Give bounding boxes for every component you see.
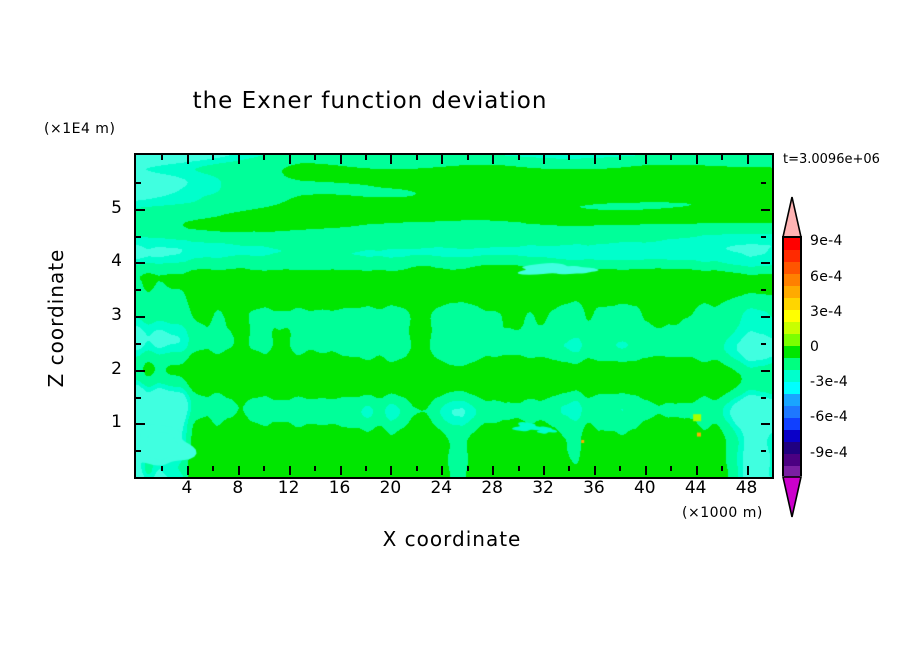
x-tick-major <box>492 466 494 475</box>
x-tick-minor-top <box>467 155 469 160</box>
x-tick-minor <box>467 466 469 471</box>
y-tick-major <box>136 316 145 318</box>
contour-field <box>136 155 772 477</box>
y-tick-label: 3 <box>88 305 122 325</box>
y-axis-title: Z coordinate <box>44 198 68 438</box>
x-tick-minor-top <box>619 155 621 160</box>
y-tick-label: 1 <box>88 412 122 432</box>
y-tick-label: 2 <box>88 359 122 379</box>
y-tick-minor <box>136 397 141 399</box>
x-tick-major <box>187 466 189 475</box>
colorbar-band <box>784 430 800 442</box>
colorbar-tick-label: 0 <box>810 339 819 355</box>
x-tick-major <box>238 466 240 475</box>
x-tick-minor-top <box>772 155 774 160</box>
x-tick-minor <box>619 466 621 471</box>
x-tick-minor-top <box>212 155 214 160</box>
x-tick-label: 48 <box>717 478 777 498</box>
x-tick-minor-top <box>263 155 265 160</box>
x-tick-major-top <box>543 155 545 164</box>
y-tick-major <box>136 370 145 372</box>
colorbar-tick-label: -9e-4 <box>810 445 848 461</box>
colorbar-band <box>784 262 800 274</box>
x-tick-minor <box>365 466 367 471</box>
colorbar-band <box>784 310 800 322</box>
x-tick-major-top <box>441 155 443 164</box>
x-tick-major <box>594 466 596 475</box>
x-tick-major <box>340 466 342 475</box>
x-tick-minor-top <box>518 155 520 160</box>
x-tick-major <box>289 466 291 475</box>
y-axis-ticks-left <box>136 155 146 477</box>
y-tick-major-right <box>761 423 770 425</box>
y-tick-minor <box>136 343 141 345</box>
time-annotation: t=3.0096e+06 <box>783 152 880 167</box>
x-tick-minor <box>212 466 214 471</box>
colorbar-band <box>784 334 800 346</box>
x-tick-minor <box>161 466 163 471</box>
x-tick-major <box>441 466 443 475</box>
colorbar-band <box>784 370 800 382</box>
colorbar-band <box>784 358 800 370</box>
colorbar-band <box>784 250 800 262</box>
colorbar-band <box>784 394 800 406</box>
colorbar-tick-label: 3e-4 <box>810 304 843 320</box>
x-tick-minor-top <box>314 155 316 160</box>
colorbar: 9e-46e-43e-40-3e-4-6e-4-9e-4 <box>782 196 802 516</box>
y-tick-major-right <box>761 262 770 264</box>
colorbar-bands <box>782 236 802 476</box>
x-tick-minor <box>721 466 723 471</box>
colorbar-band <box>784 418 800 430</box>
x-tick-major <box>645 466 647 475</box>
y-tick-label: 4 <box>88 251 122 271</box>
colorbar-band <box>784 286 800 298</box>
colorbar-tick-label: -6e-4 <box>810 409 848 425</box>
x-tick-minor-top <box>365 155 367 160</box>
x-tick-minor-top <box>416 155 418 160</box>
x-tick-major <box>390 466 392 475</box>
x-tick-minor-top <box>568 155 570 160</box>
colorbar-band <box>784 322 800 334</box>
contour-plot-area <box>134 153 774 479</box>
x-tick-major-top <box>645 155 647 164</box>
x-tick-minor-top <box>670 155 672 160</box>
y-tick-major <box>136 262 145 264</box>
x-tick-major-top <box>390 155 392 164</box>
y-tick-major <box>136 423 145 425</box>
y-tick-minor-right <box>761 236 766 238</box>
x-tick-minor-top <box>721 155 723 160</box>
y-tick-minor-right <box>761 182 766 184</box>
x-tick-minor <box>568 466 570 471</box>
x-tick-major-top <box>340 155 342 164</box>
x-tick-minor <box>772 466 774 471</box>
x-tick-major-top <box>492 155 494 164</box>
colorbar-top-arrow <box>782 196 802 238</box>
y-axis-ticks-right <box>761 155 771 477</box>
colorbar-tick-label: 6e-4 <box>810 269 843 285</box>
y-tick-minor <box>136 450 141 452</box>
chart-title: the Exner function deviation <box>0 88 740 114</box>
y-tick-minor <box>136 182 141 184</box>
x-tick-major <box>747 466 749 475</box>
x-tick-major-top <box>594 155 596 164</box>
y-tick-major-right <box>761 209 770 211</box>
colorbar-band <box>784 406 800 418</box>
x-tick-major <box>696 466 698 475</box>
x-tick-major-top <box>187 155 189 164</box>
y-tick-major <box>136 209 145 211</box>
colorbar-band <box>784 442 800 454</box>
y-axis-unit-label: (×1E4 m) <box>44 121 115 137</box>
colorbar-band <box>784 382 800 394</box>
x-tick-major-top <box>238 155 240 164</box>
x-axis-title: X coordinate <box>134 527 770 551</box>
colorbar-band <box>784 346 800 358</box>
x-tick-minor <box>670 466 672 471</box>
y-tick-minor-right <box>761 450 766 452</box>
x-tick-major <box>543 466 545 475</box>
x-tick-major-top <box>747 155 749 164</box>
x-tick-minor <box>518 466 520 471</box>
x-tick-minor <box>416 466 418 471</box>
colorbar-band <box>784 298 800 310</box>
colorbar-band <box>784 238 800 250</box>
y-tick-minor-right <box>761 397 766 399</box>
y-tick-major-right <box>761 370 770 372</box>
colorbar-band <box>784 274 800 286</box>
colorbar-bottom-arrow <box>782 476 802 518</box>
x-tick-minor <box>314 466 316 471</box>
y-tick-label: 5 <box>88 198 122 218</box>
y-tick-minor-right <box>761 343 766 345</box>
x-tick-major-top <box>696 155 698 164</box>
colorbar-tick-label: 9e-4 <box>810 233 843 249</box>
x-axis-ticks-bottom <box>136 466 772 476</box>
x-tick-minor-top <box>161 155 163 160</box>
figure-root: the Exner function deviation (×1E4 m) t=… <box>0 0 904 654</box>
y-tick-minor <box>136 289 141 291</box>
y-tick-minor <box>136 236 141 238</box>
y-tick-major-right <box>761 316 770 318</box>
colorbar-band <box>784 454 800 466</box>
x-axis-unit-label: (×1000 m) <box>682 505 763 521</box>
x-tick-major-top <box>289 155 291 164</box>
y-tick-minor-right <box>761 289 766 291</box>
x-tick-minor <box>263 466 265 471</box>
x-axis-ticks-top <box>136 155 772 165</box>
colorbar-tick-label: -3e-4 <box>810 374 848 390</box>
